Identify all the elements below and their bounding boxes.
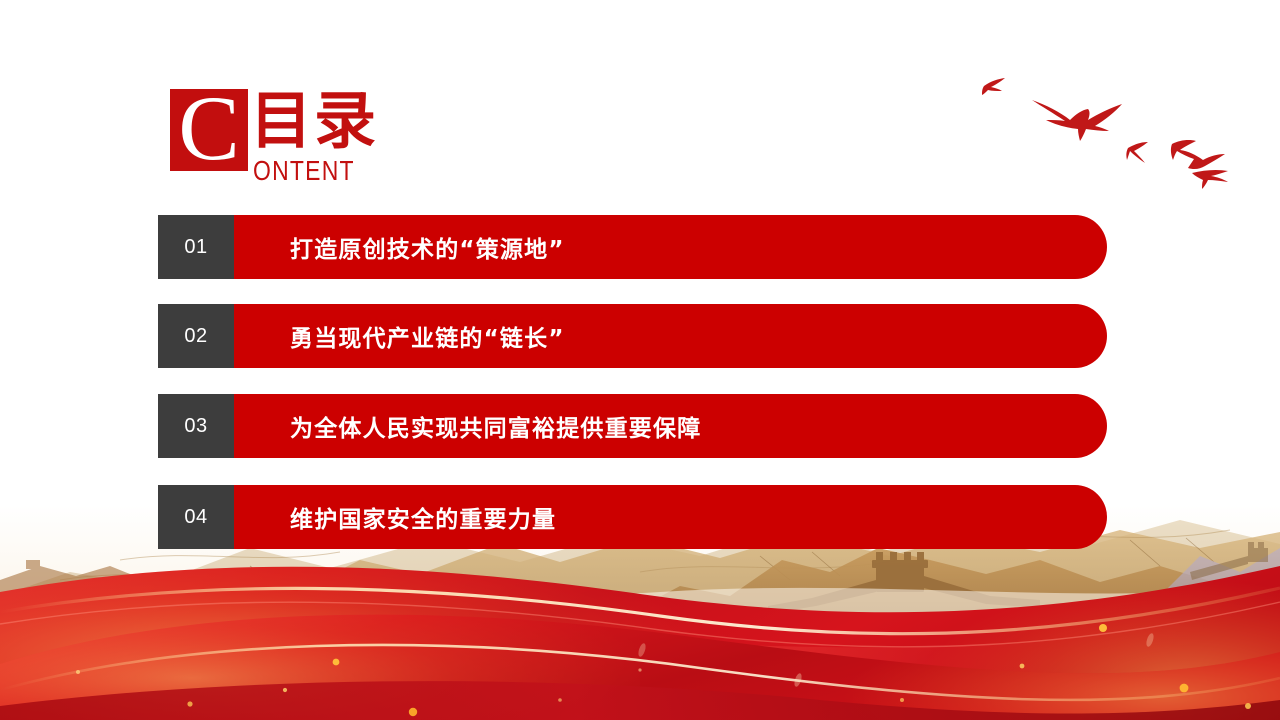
content-item-04[interactable]: 04 维护国家安全的重要力量 [158,485,1107,549]
content-item-01[interactable]: 01 打造原创技术的“策源地” [158,215,1107,279]
content-item-title: 维护国家安全的重要力量 [290,485,556,549]
content-item-title: 勇当现代产业链的“链长” [290,304,565,368]
content-item-title: 打造原创技术的“策源地” [290,215,565,279]
content-item-number: 04 [158,485,234,549]
content-item-title: 为全体人民实现共同富裕提供重要保障 [290,394,701,458]
content-item-number: 02 [158,304,234,368]
content-list: 01 打造原创技术的“策源地” 02 勇当现代产业链的“链长” 03 为全体人民… [0,0,1280,720]
slide-canvas: C 目录 ONTENT 01 打造原创技术的“ [0,0,1280,720]
content-item-02[interactable]: 02 勇当现代产业链的“链长” [158,304,1107,368]
content-item-number: 01 [158,215,234,279]
content-item-number: 03 [158,394,234,458]
content-item-03[interactable]: 03 为全体人民实现共同富裕提供重要保障 [158,394,1107,458]
